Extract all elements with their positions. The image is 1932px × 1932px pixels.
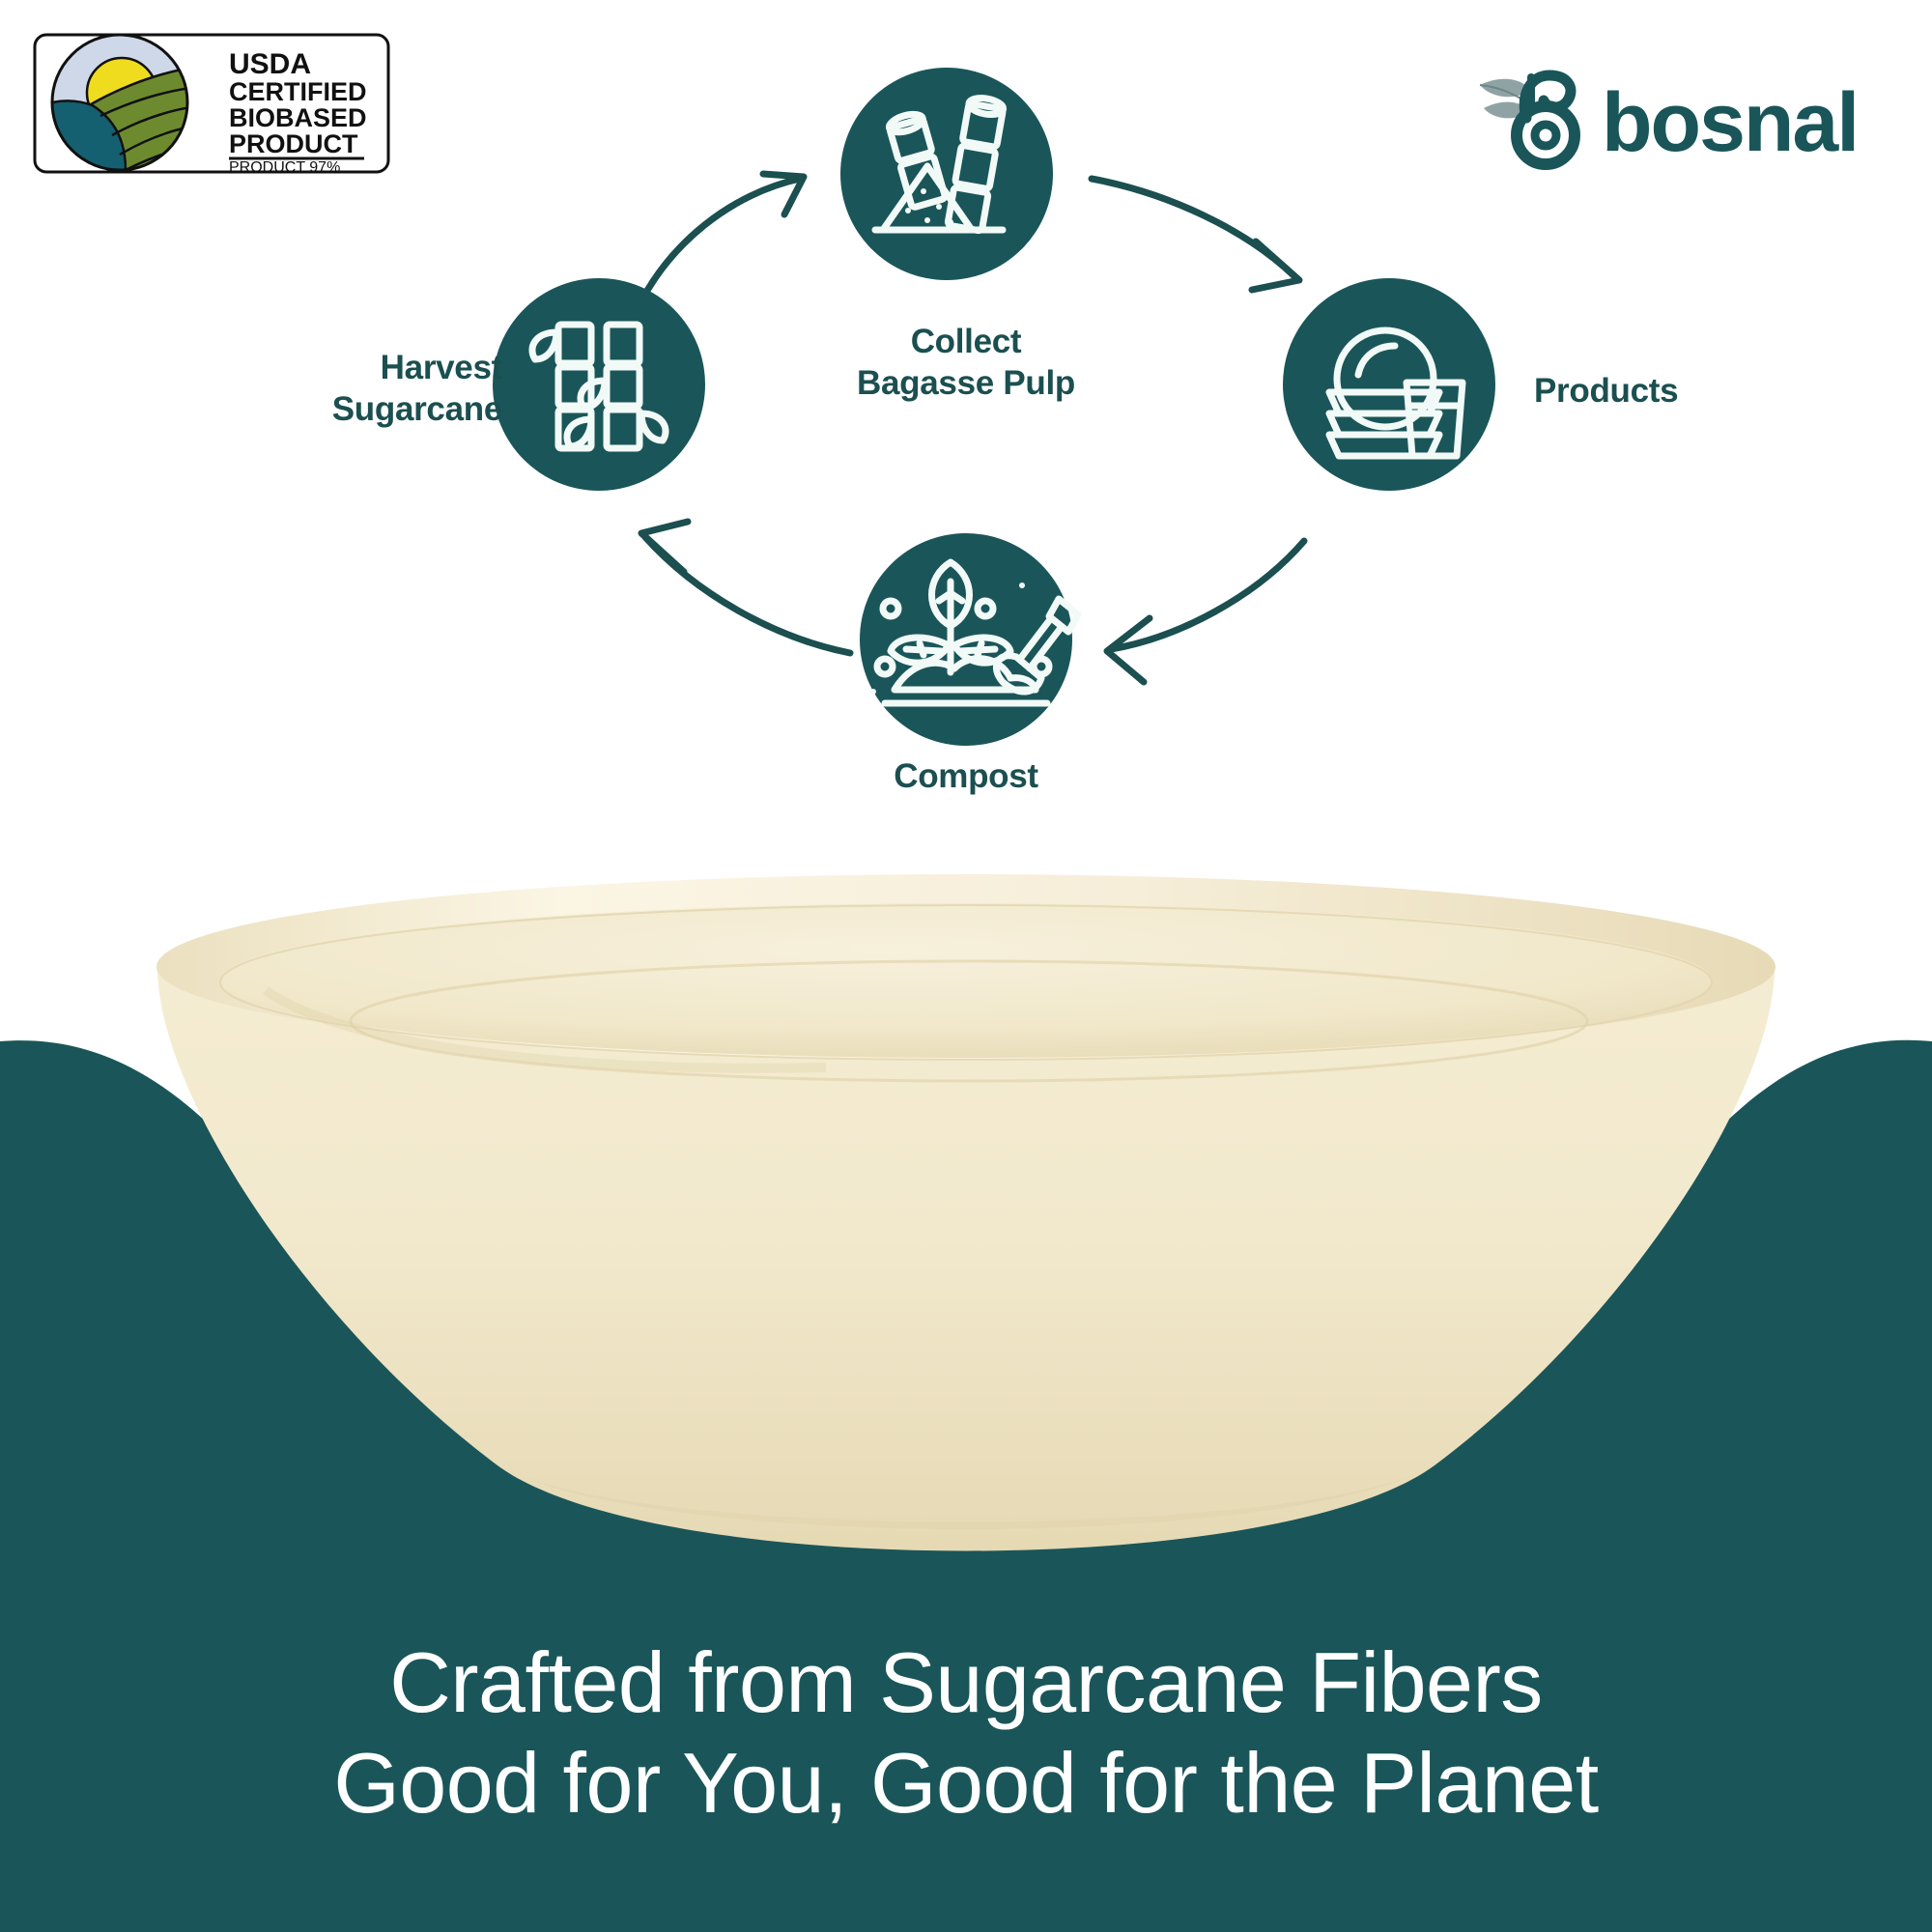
collect-circle [840,68,1053,280]
cycle-node-collect[interactable] [840,68,1053,280]
arrow-collect-to-products [1092,179,1299,290]
cycle-node-compost[interactable] [860,533,1078,746]
cycle-label-compost: Compost [802,756,1130,798]
promo-canvas: FP USDA CERTIFIED BIOBASED PRODUCT PRODU… [0,0,1932,1932]
cycle-node-products[interactable] [1283,278,1495,491]
cycle-label-harvest: Harvest Sugarcane [241,348,502,430]
bagasse-bowl-image [150,874,1782,1608]
arrow-compost-to-harvest [641,522,850,653]
lifecycle-diagram: .ico{fill:none;stroke:#f2faf7;stroke-wid… [0,0,1932,966]
headline-block: Crafted from Sugarcane Fibers Good for Y… [0,1633,1932,1833]
headline-line-1: Crafted from Sugarcane Fibers [0,1633,1932,1733]
cycle-label-collect: Collect Bagasse Pulp [792,322,1140,404]
arrow-products-to-compost [1107,541,1304,682]
headline-line-2: Good for You, Good for the Planet [0,1733,1932,1833]
cycle-node-harvest[interactable] [493,278,705,491]
harvest-circle [493,278,705,491]
cycle-label-products: Products [1534,371,1824,412]
